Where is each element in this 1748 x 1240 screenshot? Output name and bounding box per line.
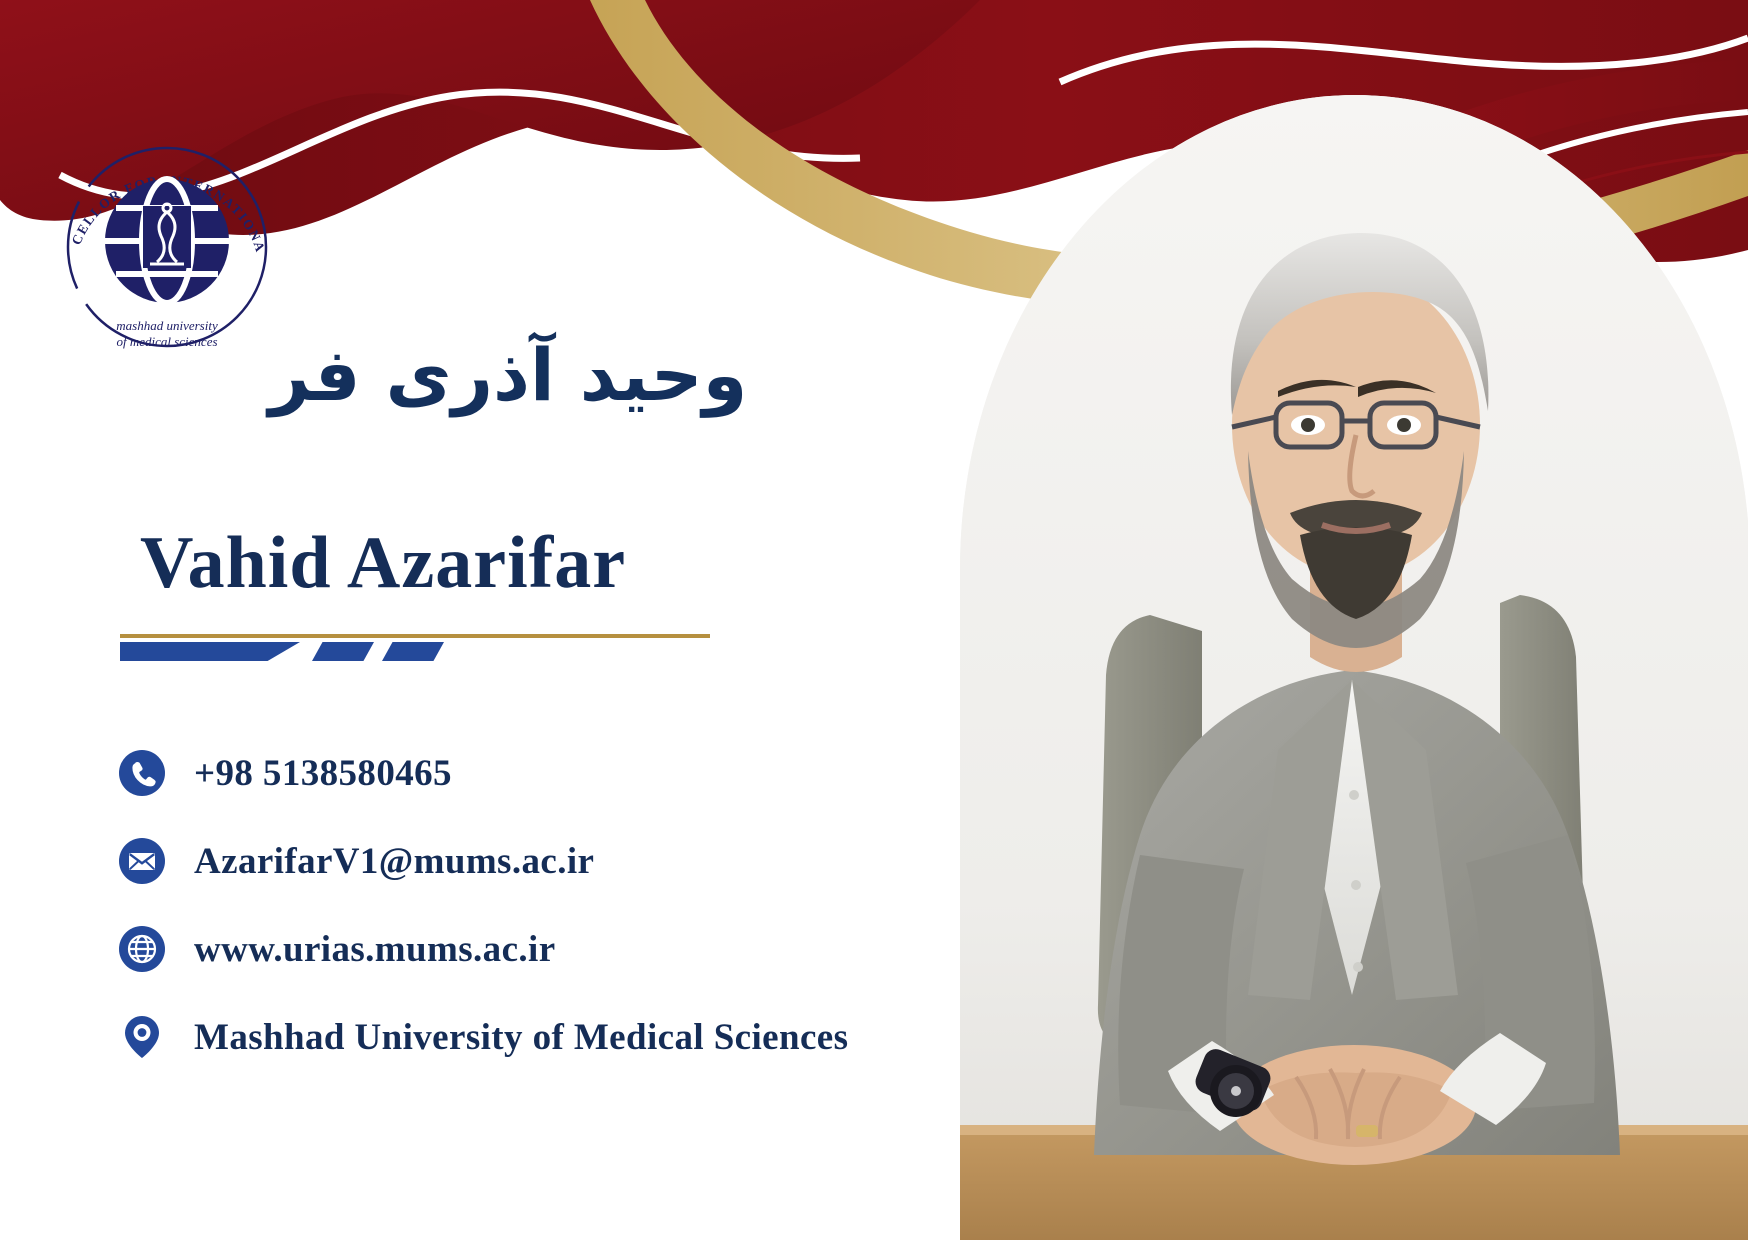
- divider-slash-two: [382, 642, 444, 661]
- contact-value-address: Mashhad University of Medical Sciences: [194, 1016, 848, 1059]
- portrait-image: [960, 95, 1748, 1240]
- contact-list: +98 5138580465 AzarifarV1@mums.ac.ir: [118, 736, 938, 1088]
- divider-slash-one: [312, 642, 374, 661]
- university-logo: VICE CHANCELLOR FOR INTERNATIONAL AFFAIR…: [58, 138, 276, 356]
- portrait: [960, 95, 1748, 1240]
- email-icon: [118, 837, 166, 885]
- portrait-clip: [960, 95, 1748, 1240]
- phone-icon: [118, 749, 166, 797]
- contact-value-phone: +98 5138580465: [194, 752, 452, 795]
- contact-row-address[interactable]: Mashhad University of Medical Sciences: [118, 1000, 938, 1074]
- divider: [120, 634, 710, 668]
- profile-card: VICE CHANCELLOR FOR INTERNATIONAL AFFAIR…: [0, 0, 1748, 1240]
- divider-gold-line: [120, 634, 710, 638]
- contact-row-phone[interactable]: +98 5138580465: [118, 736, 938, 810]
- location-icon: [118, 1013, 166, 1061]
- contact-row-website[interactable]: www.urias.mums.ac.ir: [118, 912, 938, 986]
- globe-icon: [118, 925, 166, 973]
- contact-value-email: AzarifarV1@mums.ac.ir: [194, 840, 594, 883]
- contact-value-website: www.urias.mums.ac.ir: [194, 928, 556, 971]
- divider-blue-bar: [120, 642, 300, 661]
- person-name-persian: وحید آذری فر: [198, 330, 818, 420]
- contact-row-email[interactable]: AzarifarV1@mums.ac.ir: [118, 824, 938, 898]
- person-name-english: Vahid Azarifar: [140, 521, 626, 606]
